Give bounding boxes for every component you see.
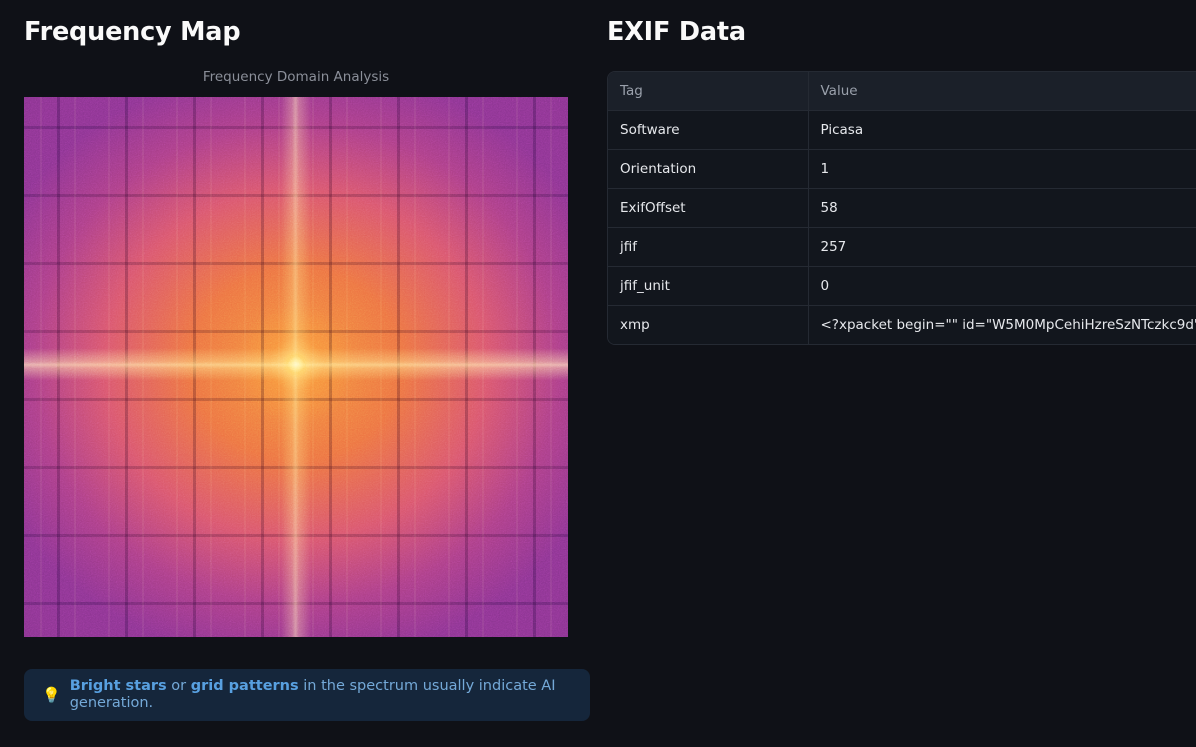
column-header-tag: Tag xyxy=(608,72,808,111)
cell-tag: Software xyxy=(608,110,808,149)
page-title-frequency-map: Frequency Map xyxy=(0,0,600,46)
cell-value: 58 xyxy=(808,188,1196,227)
spectrum-vignette xyxy=(24,97,568,637)
table-row: xmp <?xpacket begin="" id="W5M0MpCehiHzr… xyxy=(608,305,1196,344)
exif-table-head: Tag Value xyxy=(608,72,1196,111)
table-row: jfif 257 xyxy=(608,227,1196,266)
lightbulb-icon: 💡 xyxy=(42,688,61,703)
chart-title: Frequency Domain Analysis xyxy=(24,71,590,85)
table-row: ExifOffset 58 xyxy=(608,188,1196,227)
cell-tag: jfif xyxy=(608,227,808,266)
frequency-spectrum-image xyxy=(24,97,568,637)
tip-text: Bright stars or grid patterns in the spe… xyxy=(70,678,572,713)
cell-value: 0 xyxy=(808,266,1196,305)
frequency-map-panel: Frequency Map Frequency Domain Analysis xyxy=(0,0,600,721)
exif-table-container: Tag Value Software Picasa Orientation 1 … xyxy=(607,71,1196,345)
cell-tag: xmp xyxy=(608,305,808,344)
cell-tag: Orientation xyxy=(608,149,808,188)
tip-conjunction: or xyxy=(167,678,191,694)
exif-table: Tag Value Software Picasa Orientation 1 … xyxy=(608,72,1196,344)
cell-value: 1 xyxy=(808,149,1196,188)
cell-value: 257 xyxy=(808,227,1196,266)
cell-tag: ExifOffset xyxy=(608,188,808,227)
table-row: Orientation 1 xyxy=(608,149,1196,188)
table-row: Software Picasa xyxy=(608,110,1196,149)
tip-bold-grid-patterns: grid patterns xyxy=(191,678,299,694)
page-title-exif-data: EXIF Data xyxy=(600,0,1196,46)
tip-bold-bright-stars: Bright stars xyxy=(70,678,167,694)
cell-value: <?xpacket begin="" id="W5M0MpCehiHzreSzN… xyxy=(808,305,1196,344)
cell-value: Picasa xyxy=(808,110,1196,149)
column-header-value: Value xyxy=(808,72,1196,111)
tip-callout: 💡 Bright stars or grid patterns in the s… xyxy=(24,669,590,721)
exif-data-panel: EXIF Data Tag Value Software Picasa xyxy=(600,0,1196,747)
table-row: jfif_unit 0 xyxy=(608,266,1196,305)
frequency-analysis-page: Frequency Map Frequency Domain Analysis xyxy=(0,0,1196,747)
cell-tag: jfif_unit xyxy=(608,266,808,305)
table-header-row: Tag Value xyxy=(608,72,1196,111)
exif-table-body: Software Picasa Orientation 1 ExifOffset… xyxy=(608,110,1196,344)
frequency-map-figure: Frequency Domain Analysis xyxy=(0,71,600,638)
